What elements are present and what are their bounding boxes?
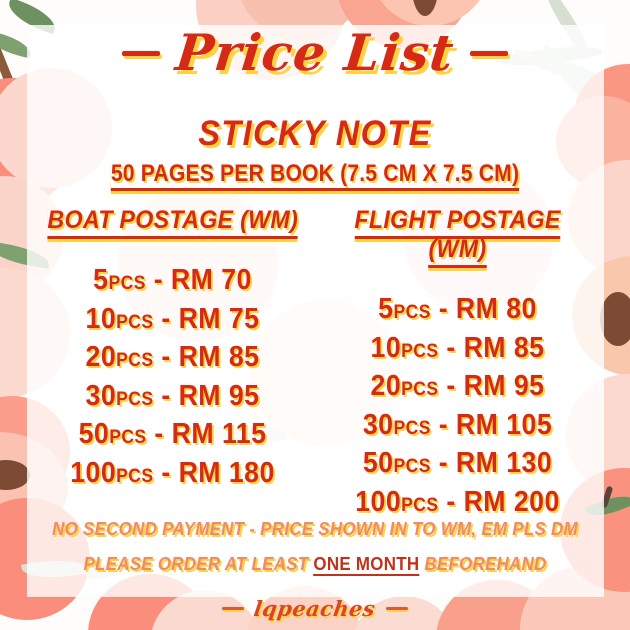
price: RM 95 xyxy=(464,370,545,402)
qty: 50 xyxy=(79,418,110,450)
table-row: 50PCS - RM 130 xyxy=(326,444,588,483)
product-spec-text: 50 PAGES PER BOOK (7.5 CM X 7.5 CM) xyxy=(111,160,519,191)
price: RM 105 xyxy=(456,409,552,441)
price: RM 75 xyxy=(179,303,260,335)
unit: PCS xyxy=(116,389,153,410)
separator: - xyxy=(446,332,455,364)
signature-left-dash-icon xyxy=(222,607,244,610)
unit: PCS xyxy=(401,379,438,400)
table-row: 5PCS - RM 70 xyxy=(41,261,303,300)
price-rows-flight: 5PCS - RM 80 10PCS - RM 85 20PCS - RM 95 xyxy=(315,290,600,521)
price: RM 85 xyxy=(464,332,545,364)
qty: 5 xyxy=(378,293,393,325)
qty: 100 xyxy=(355,486,401,518)
price: RM 70 xyxy=(171,264,252,296)
price-rows-boat: 5PCS - RM 70 10PCS - RM 75 20PCS - RM 85 xyxy=(30,261,315,492)
separator: - xyxy=(154,264,163,296)
qty: 20 xyxy=(86,341,117,373)
unit: PCS xyxy=(393,456,430,477)
table-row: 20PCS - RM 95 xyxy=(326,367,588,406)
signature-handle: lqpeaches xyxy=(253,596,378,621)
unit: PCS xyxy=(393,418,430,439)
qty: 20 xyxy=(371,370,402,402)
separator: - xyxy=(439,447,448,479)
separator: - xyxy=(161,457,170,489)
price: RM 130 xyxy=(456,447,552,479)
separator: - xyxy=(161,341,170,373)
column-header-flight: FLIGHT POSTAGE (WM) xyxy=(325,206,590,264)
table-row: 5PCS - RM 80 xyxy=(326,290,588,329)
unit: PCS xyxy=(116,312,153,333)
table-row: 30PCS - RM 105 xyxy=(326,406,588,445)
price: RM 115 xyxy=(172,418,267,450)
unit: PCS xyxy=(401,495,438,516)
price: RM 180 xyxy=(179,457,275,489)
product-name: STICKY NOTE xyxy=(22,114,608,154)
separator: - xyxy=(161,380,170,412)
title-right-dash-icon xyxy=(470,51,508,56)
price-list-content: Price List STICKY NOTE 50 PAGES PER BOOK… xyxy=(0,0,630,630)
table-row: 100PCS - RM 200 xyxy=(326,483,588,522)
page-title: Price List xyxy=(0,27,630,80)
table-row: 30PCS - RM 95 xyxy=(41,377,303,416)
qty: 10 xyxy=(371,332,402,364)
title-left-dash-icon xyxy=(122,51,160,56)
table-row: 10PCS - RM 75 xyxy=(41,300,303,339)
unit: PCS xyxy=(109,427,146,448)
qty: 30 xyxy=(86,380,117,412)
note-line-2: PLEASE ORDER AT LEAST ONE MONTH BEFOREHA… xyxy=(19,555,611,575)
column-header-boat-text: BOAT POSTAGE (WM) xyxy=(47,206,298,239)
qty: 50 xyxy=(363,447,394,479)
price-column-flight: FLIGHT POSTAGE (WM) 5PCS - RM 80 10PCS -… xyxy=(315,206,600,521)
table-row: 20PCS - RM 85 xyxy=(41,338,303,377)
separator: - xyxy=(439,293,448,325)
unit: PCS xyxy=(116,350,153,371)
unit: PCS xyxy=(401,341,438,362)
column-header-flight-text: FLIGHT POSTAGE (WM) xyxy=(354,206,560,268)
note-line-2-before: PLEASE ORDER AT LEAST xyxy=(83,554,313,574)
unit: PCS xyxy=(116,466,153,487)
note-line-2-after: BEFOREHAND xyxy=(419,554,546,574)
shop-signature: lqpeaches xyxy=(0,596,630,621)
unit: PCS xyxy=(108,273,145,294)
price-column-boat: BOAT POSTAGE (WM) 5PCS - RM 70 10PCS - R… xyxy=(30,206,315,521)
footer-notes: NO SECOND PAYMENT - PRICE SHOWN IN TO WM… xyxy=(0,520,630,590)
qty: 100 xyxy=(70,457,116,489)
signature-right-dash-icon xyxy=(386,607,408,610)
separator: - xyxy=(439,409,448,441)
note-line-2-emphasis: ONE MONTH xyxy=(313,554,419,576)
price: RM 95 xyxy=(179,380,260,412)
product-spec: 50 PAGES PER BOOK (7.5 CM X 7.5 CM) xyxy=(38,160,592,188)
price: RM 85 xyxy=(179,341,260,373)
note-line-1: NO SECOND PAYMENT - PRICE SHOWN IN TO WM… xyxy=(19,520,611,540)
price: RM 200 xyxy=(464,486,560,518)
separator: - xyxy=(154,418,163,450)
separator: - xyxy=(446,486,455,518)
price: RM 80 xyxy=(456,293,537,325)
table-row: 10PCS - RM 85 xyxy=(326,329,588,368)
qty: 10 xyxy=(86,303,117,335)
qty: 5 xyxy=(93,264,108,296)
qty: 30 xyxy=(363,409,394,441)
price-columns: BOAT POSTAGE (WM) 5PCS - RM 70 10PCS - R… xyxy=(30,206,600,521)
price-list-graphic: Price List STICKY NOTE 50 PAGES PER BOOK… xyxy=(0,0,630,630)
column-header-boat: BOAT POSTAGE (WM) xyxy=(47,206,298,235)
unit: PCS xyxy=(393,302,430,323)
separator: - xyxy=(161,303,170,335)
table-row: 50PCS - RM 115 xyxy=(41,415,303,454)
separator: - xyxy=(446,370,455,402)
table-row: 100PCS - RM 180 xyxy=(41,454,303,493)
title-text: Price List xyxy=(173,27,457,80)
